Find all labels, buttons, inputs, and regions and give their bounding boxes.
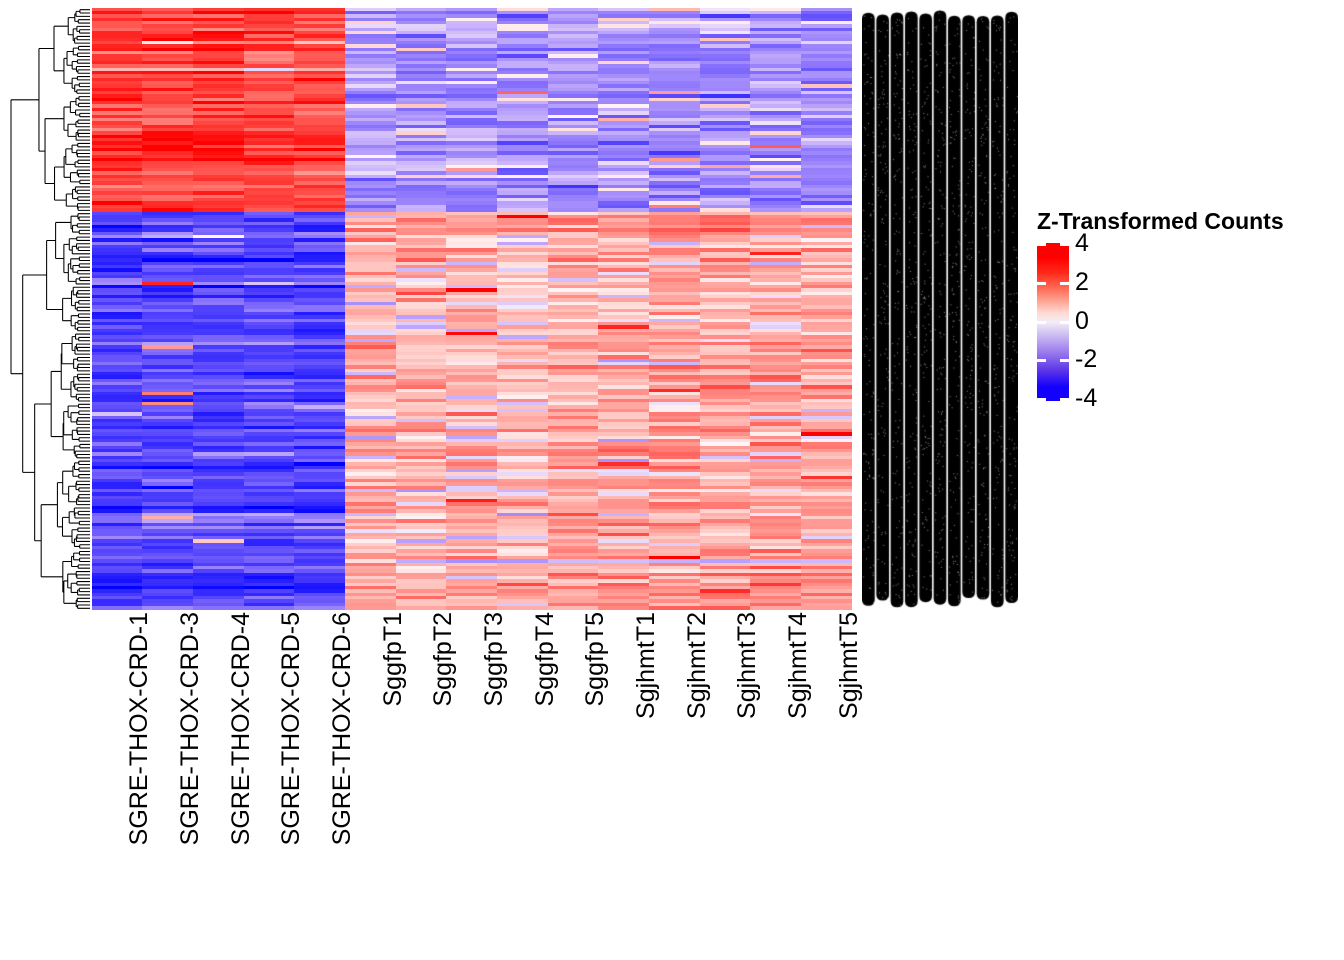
column-label-13: SgjhmtT3 [735, 612, 760, 719]
column-label-14: SgjhmtT4 [786, 612, 811, 719]
colorbar-tick-2 [1060, 282, 1069, 285]
colorbar-tick-0 [1037, 321, 1046, 324]
column-label-15: SgjhmtT5 [837, 612, 862, 719]
column-label-10: SggfpT5 [583, 612, 608, 707]
column-label-2: SGRE-THOX-CRD-3 [178, 612, 203, 845]
column-labels: SGRE-THOX-CRD-1SGRE-THOX-CRD-3SGRE-THOX-… [92, 612, 852, 942]
legend-title: Z-Transformed Counts [1037, 208, 1284, 235]
column-label-4: SGRE-THOX-CRD-5 [279, 612, 304, 845]
column-label-9: SggfpT4 [533, 612, 558, 707]
colorbar-label-4: 4 [1075, 231, 1089, 256]
colorbar-tick-4 [1037, 243, 1046, 246]
column-label-6: SggfpT1 [381, 612, 406, 707]
row-dendrogram [8, 8, 90, 610]
legend-body: 420-2-4 [1037, 243, 1284, 405]
heatmap-matrix [92, 8, 852, 610]
legend: Z-Transformed Counts 420-2-4 [1037, 208, 1284, 405]
column-label-12: SgjhmtT2 [685, 612, 710, 719]
colorbar-label-neg4: -4 [1075, 386, 1097, 411]
colorbar-label-neg2: -2 [1075, 347, 1097, 372]
heatmap-canvas [92, 8, 852, 610]
colorbar-label-0: 0 [1075, 309, 1089, 334]
colorbar-tick-neg4 [1060, 398, 1069, 401]
colorbar-tick-2 [1037, 282, 1046, 285]
column-label-3: SGRE-THOX-CRD-4 [229, 612, 254, 845]
column-label-11: SgjhmtT1 [634, 612, 659, 719]
colorbar-tick-labels: 420-2-4 [1075, 243, 1135, 401]
colorbar-tick-neg2 [1060, 359, 1069, 362]
colorbar-tick-4 [1060, 243, 1069, 246]
column-label-5: SGRE-THOX-CRD-6 [330, 612, 355, 845]
colorbar-tick-neg2 [1037, 359, 1046, 362]
row-labels-canvas [862, 8, 1018, 610]
column-label-7: SggfpT2 [431, 612, 456, 707]
column-label-1: SGRE-THOX-CRD-1 [127, 612, 152, 845]
colorbar-tick-0 [1060, 321, 1069, 324]
row-labels-block [862, 8, 1018, 610]
row-dendrogram-svg [8, 8, 90, 610]
colorbar-tick-neg4 [1037, 398, 1046, 401]
colorbar-ticks [1037, 243, 1069, 401]
colorbar-label-2: 2 [1075, 270, 1089, 295]
column-label-8: SggfpT3 [482, 612, 507, 707]
heatmap-figure: SGRE-THOX-CRD-1SGRE-THOX-CRD-3SGRE-THOX-… [0, 0, 1344, 960]
